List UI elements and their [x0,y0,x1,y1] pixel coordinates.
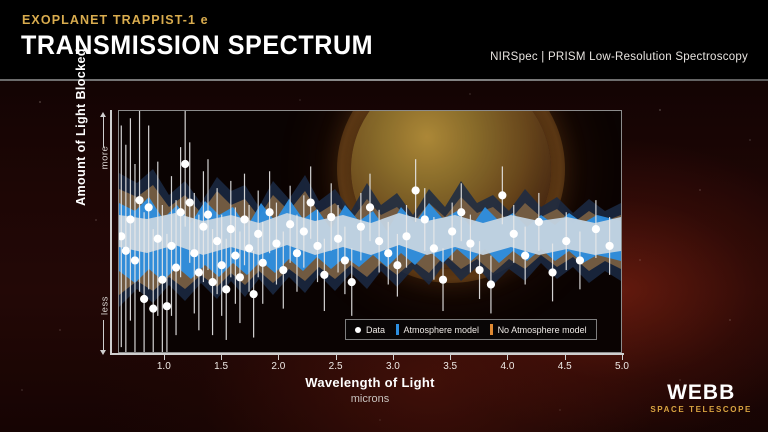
x-tick-label: 1.0 [157,361,171,372]
data-point [208,278,216,286]
data-point [300,227,308,235]
y-axis-title: Amount of Light Blocked [74,12,88,242]
slide-root: EXOPLANET TRAPPIST-1 e TRANSMISSION SPEC… [0,0,768,432]
data-point [140,295,148,303]
data-point [320,271,328,279]
data-point [122,247,130,255]
data-point [236,273,244,281]
legend-dot-icon [355,327,361,333]
data-point [254,230,262,238]
data-point [430,244,438,252]
legend-item-label: Atmosphere model [404,325,480,335]
data-point [327,213,335,221]
x-tick-label: 3.5 [443,361,457,372]
data-point [357,223,365,231]
data-point [131,256,139,264]
data-point [167,242,175,250]
data-point [348,278,356,286]
x-tick-mark [450,355,451,360]
spectrum-plot [118,110,622,353]
instrument-label: NIRSpec | PRISM Low-Resolution Spectrosc… [490,51,748,63]
data-point [293,249,301,257]
y-axis-up-arrow-head [100,112,106,117]
data-point [393,261,401,269]
x-tick-label: 1.5 [214,361,228,372]
x-tick-label: 4.5 [558,361,572,372]
data-point [457,208,465,216]
data-point [149,305,157,313]
data-point [592,225,600,233]
header-divider [0,79,768,81]
x-tick-mark [164,355,165,360]
data-point [213,237,221,245]
chart-legend: DataAtmosphere modelNo Atmosphere model [345,319,597,340]
webb-logo: WEBB SPACE TELESCOPE [650,382,752,414]
data-point [535,218,543,226]
data-point [384,249,392,257]
data-point [266,208,274,216]
y-axis-down-arrow-head [100,350,106,355]
data-point [158,276,166,284]
eyebrow-label: EXOPLANET TRAPPIST-1 e [22,13,209,27]
legend-swatch-icon [490,324,493,335]
data-point [154,235,162,243]
x-tick-mark [336,355,337,360]
data-point [366,203,374,211]
y-axis-down-arrow-shaft [103,320,104,350]
data-point [576,256,584,264]
legend-item: No Atmosphere model [490,324,587,335]
x-tick-mark [221,355,222,360]
legend-item: Data [355,325,385,335]
legend-item-label: Data [366,325,385,335]
data-point [498,191,506,199]
x-tick-label: 2.5 [329,361,343,372]
x-axis-title: Wavelength of Light [118,375,622,390]
data-point [222,285,230,293]
data-point [334,235,342,243]
data-point [195,268,203,276]
x-tick-mark [393,355,394,360]
x-tick-label: 4.0 [501,361,515,372]
data-point [199,223,207,231]
data-point [562,237,570,245]
x-axis-line [110,353,624,355]
data-point [145,203,153,211]
legend-item: Atmosphere model [396,324,479,335]
x-tick-mark [565,355,566,360]
x-axis-units: microns [118,393,622,405]
data-point [375,237,383,245]
legend-item-label: No Atmosphere model [498,325,587,335]
x-tick-mark [622,355,623,360]
data-point [177,208,185,216]
data-point [402,232,410,240]
data-point [172,264,180,272]
data-point [448,227,456,235]
y-axis-low-label: less [100,286,111,326]
data-point [250,290,258,298]
data-point [521,252,529,260]
data-point [186,198,194,206]
data-point [218,261,226,269]
data-point [240,215,248,223]
x-tick-label: 5.0 [615,361,629,372]
data-point [439,276,447,284]
data-point [487,280,495,288]
data-point [181,160,189,168]
data-point [135,196,143,204]
data-point [126,215,134,223]
data-point [466,239,474,247]
x-tick-label: 2.0 [271,361,285,372]
data-point [421,215,429,223]
webb-logo-tagline: SPACE TELESCOPE [650,405,752,414]
data-point [245,244,253,252]
data-point [204,211,212,219]
data-point [510,230,518,238]
x-tick-mark [278,355,279,360]
data-point [307,198,315,206]
data-point [190,249,198,257]
data-point [605,242,613,250]
data-point [279,266,287,274]
spectrum-bands [119,111,621,352]
data-point [227,225,235,233]
y-axis-up-arrow-shaft [103,117,104,147]
webb-logo-wordmark: WEBB [650,382,752,403]
x-tick-mark [507,355,508,360]
y-axis-high-label: more [100,138,111,178]
data-point [475,266,483,274]
x-tick-label: 3.0 [386,361,400,372]
data-point [548,268,556,276]
data-point [286,220,294,228]
data-point [259,259,267,267]
data-point [412,186,420,194]
data-point [313,242,321,250]
data-point [163,302,171,310]
data-point [341,256,349,264]
data-point [272,239,280,247]
legend-swatch-icon [396,324,399,335]
data-point [231,252,239,260]
